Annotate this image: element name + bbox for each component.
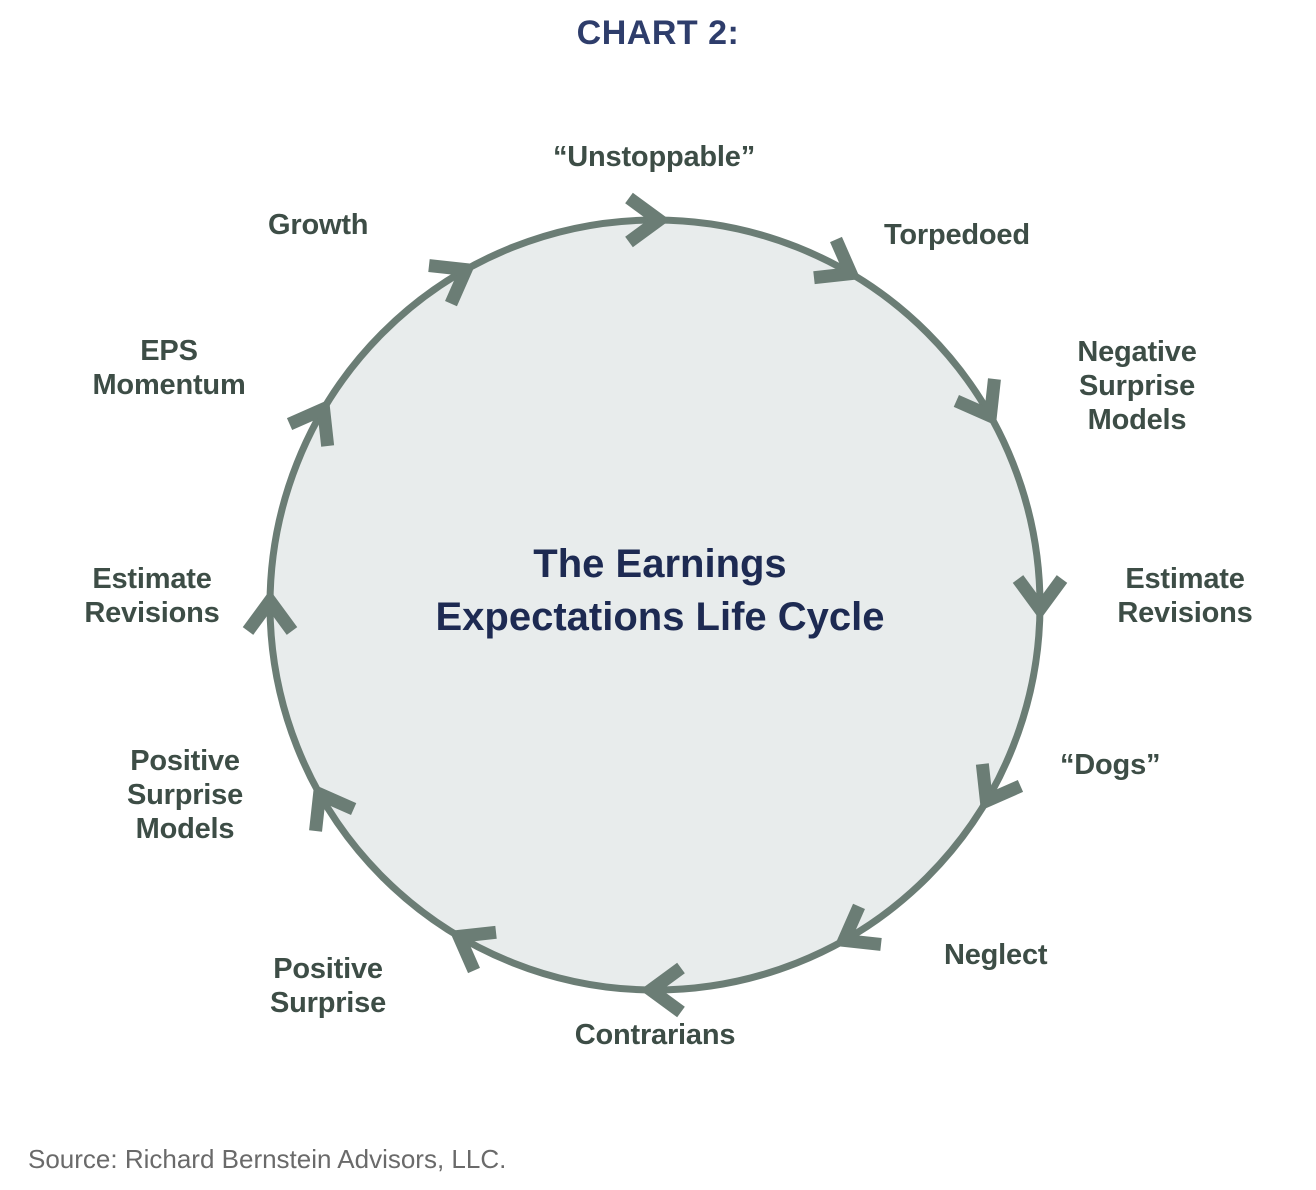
cycle-label-neglect: Neglect [944,938,1047,972]
cycle-label-estimate-revisions-left: Estimate Revisions [48,562,256,630]
cycle-diagram: The Earnings Expectations Life Cycle “Un… [0,0,1316,1120]
cycle-label-positive-surprise-models: Positive Surprise Models [88,744,282,847]
cycle-label-negative-surprise-models: Negative Surprise Models [1032,335,1242,438]
cycle-label-estimate-revisions-right: Estimate Revisions [1082,562,1288,630]
cycle-label-unstoppable: “Unstoppable” [498,140,810,174]
cycle-label-growth: Growth [268,208,368,242]
center-label: The Earnings Expectations Life Cycle [330,538,990,644]
cycle-label-eps-momentum: EPS Momentum [40,334,298,402]
cycle-label-dogs: “Dogs” [1060,748,1160,782]
source-note: Source: Richard Bernstein Advisors, LLC. [28,1144,506,1175]
cycle-label-contrarians: Contrarians [530,1018,780,1052]
cycle-label-torpedoed: Torpedoed [884,218,1030,252]
cycle-label-positive-surprise: Positive Surprise [228,952,428,1020]
